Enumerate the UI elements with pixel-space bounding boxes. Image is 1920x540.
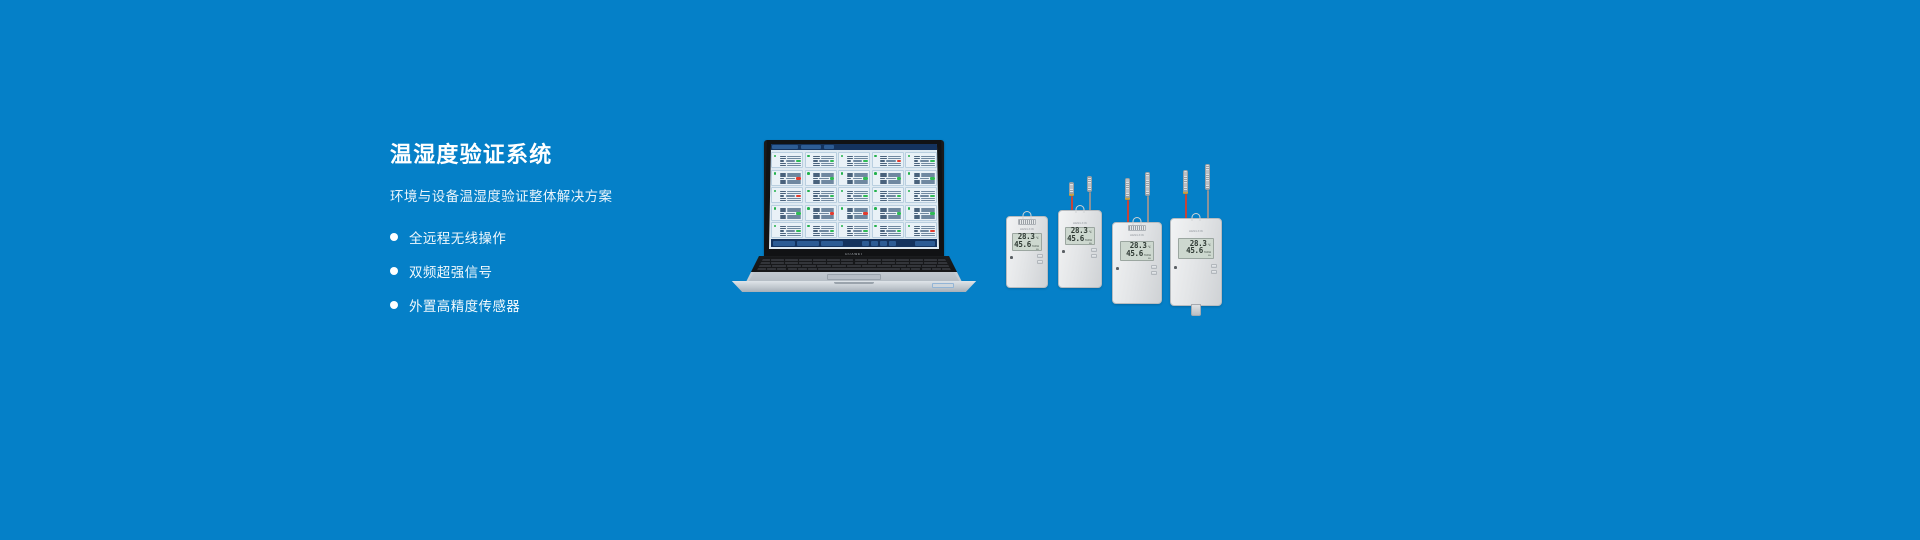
- device-button-group: [1211, 264, 1217, 274]
- sensor-ok-badge: [897, 177, 901, 179]
- hanging-hook-icon: [1133, 217, 1142, 225]
- sensor-field-key: [847, 195, 852, 196]
- sensor-field-key: [813, 213, 818, 214]
- sensor-field-key: [780, 182, 787, 183]
- keyboard-key[interactable]: [910, 262, 923, 264]
- sensor-status-dot-icon: [841, 155, 844, 158]
- keyboard-key[interactable]: [772, 265, 786, 267]
- hanging-hook-icon: [1076, 205, 1085, 213]
- keyboard-key[interactable]: [910, 259, 923, 261]
- sensor-alarm-badge: [796, 177, 800, 179]
- sensor-field-key: [914, 200, 921, 201]
- sensor-card[interactable]: [771, 187, 803, 203]
- sensor-field-key: [880, 165, 887, 166]
- sensor-field-key: [914, 230, 919, 231]
- humidity-unit: %RH: [1144, 253, 1151, 257]
- sensor-field-value: [853, 230, 863, 231]
- sensor-field-value: [888, 182, 901, 183]
- sensor-card-row: [874, 200, 901, 201]
- sensor-card[interactable]: [872, 205, 904, 221]
- sensor-card[interactable]: [838, 205, 870, 221]
- sensor-ok-badge: [830, 195, 834, 197]
- sensor-status-dot-icon: [908, 155, 911, 158]
- sensor-status-dot-icon: [807, 190, 810, 193]
- sensor-field-key: [847, 235, 854, 236]
- sensor-card[interactable]: [771, 205, 803, 221]
- sensor-alarm-badge: [830, 212, 834, 214]
- pagination-page-3[interactable]: [880, 241, 887, 246]
- probe-sensor-mesh-icon: [1183, 170, 1188, 192]
- lcd-display: 28.3 ℃ 45.6 %RH RH: [1178, 238, 1214, 259]
- sensor-card[interactable]: [872, 152, 904, 168]
- keyboard-key[interactable]: [924, 259, 937, 261]
- sensor-card-row: [807, 177, 834, 179]
- sensor-field-key: [914, 182, 921, 183]
- sensor-field-value: [888, 217, 901, 218]
- sensor-card-row: [774, 182, 801, 183]
- sensor-card-row: [874, 165, 901, 166]
- external-probe-secondary: [1082, 176, 1098, 212]
- menu-item-group-1[interactable]: [772, 145, 798, 149]
- temperature-unit: ℃: [1089, 230, 1092, 234]
- sensor-card-row: [841, 165, 868, 166]
- sensor-field-value: [819, 213, 829, 214]
- sensor-field-value: [886, 178, 896, 179]
- sensor-card-row: [908, 212, 935, 214]
- sensor-card-row: [874, 177, 901, 179]
- sensor-field-value: [821, 165, 834, 166]
- keyboard-key[interactable]: [787, 265, 801, 267]
- sensor-status-dot-icon: [774, 207, 777, 210]
- sensor-field-value: [886, 230, 896, 231]
- sensor-card[interactable]: [872, 222, 904, 238]
- lcd-humidity-row: 45.6 %RH: [1068, 235, 1092, 243]
- sensor-ok-badge: [830, 230, 834, 232]
- keyboard-key[interactable]: [868, 262, 881, 264]
- sensor-ok-badge: [930, 195, 934, 197]
- sensor-field-key: [914, 160, 919, 161]
- status-led-icon: [1116, 267, 1119, 270]
- list-item: 全远程无线操作: [390, 224, 720, 250]
- sensor-card-row: [807, 165, 834, 166]
- sensor-card-row: [841, 200, 868, 201]
- keyboard-key[interactable]: [813, 259, 826, 261]
- device-button-group: [1037, 254, 1043, 264]
- probe-sensor-mesh-icon: [1069, 182, 1074, 194]
- keyboard-key[interactable]: [813, 262, 826, 264]
- bottom-probe-connector: [1191, 304, 1201, 316]
- sensor-card-row: [807, 230, 834, 232]
- sensor-card-row: [908, 200, 935, 201]
- keyboard-key[interactable]: [896, 259, 909, 261]
- keyboard-key[interactable]: [896, 262, 909, 264]
- probe-sensor-mesh-icon: [1205, 164, 1210, 190]
- device-button-up[interactable]: [1211, 264, 1217, 268]
- sensor-field-value: [888, 165, 901, 166]
- sensor-card-row: [874, 160, 901, 162]
- sensor-card[interactable]: [805, 187, 837, 203]
- device-button-group: [1091, 248, 1097, 258]
- sensor-field-value: [821, 200, 834, 201]
- sensor-field-key: [780, 230, 785, 231]
- sensor-field-value: [920, 195, 930, 196]
- sensor-field-value: [787, 200, 800, 201]
- keyboard-key[interactable]: [911, 268, 920, 270]
- sensor-field-key: [813, 217, 820, 218]
- feature-list: 全远程无线操作 双频超强信号 外置高精度传感器: [390, 224, 720, 318]
- sensor-card-row: [807, 200, 834, 201]
- keyboard-key[interactable]: [777, 268, 786, 270]
- sensor-card[interactable]: [872, 187, 904, 203]
- sensor-card-row: [774, 200, 801, 201]
- laptop-screen: [769, 144, 939, 249]
- sensor-alarm-badge: [897, 160, 901, 162]
- sensor-field-value: [819, 178, 829, 179]
- keyboard-key[interactable]: [862, 265, 876, 267]
- sensor-field-key: [813, 195, 818, 196]
- external-probe-right: [1140, 172, 1156, 226]
- keyboard-key[interactable]: [841, 262, 854, 264]
- page-subtitle: 环境与设备温湿度验证整体解决方案: [390, 185, 720, 205]
- sensor-card[interactable]: [838, 187, 870, 203]
- sensor-card-row: [841, 182, 868, 183]
- sensor-field-key: [780, 235, 787, 236]
- sensor-field-value: [888, 200, 901, 201]
- sensor-field-key: [847, 178, 852, 179]
- sensor-field-key: [914, 235, 921, 236]
- sensor-card-row: [774, 195, 801, 197]
- sensor-card-row: [841, 195, 868, 197]
- page-title: 温湿度验证系统: [390, 142, 720, 168]
- sensor-field-key: [813, 235, 820, 236]
- sensor-status-dot-icon: [874, 207, 877, 210]
- laptop-keyboard[interactable]: [754, 257, 954, 272]
- sensor-card[interactable]: [805, 205, 837, 221]
- keyboard-key[interactable]: [808, 268, 817, 270]
- sensor-field-value: [921, 182, 934, 183]
- pagination-page-4[interactable]: [889, 241, 896, 246]
- sensor-ok-badge: [863, 160, 867, 162]
- sensor-card[interactable]: [872, 170, 904, 186]
- sensor-card-row: [807, 195, 834, 197]
- sensor-card-row: [841, 212, 868, 214]
- sensor-field-key: [880, 160, 885, 161]
- sensor-field-value: [854, 235, 867, 236]
- sensor-field-value: [920, 230, 930, 231]
- sensor-card-row: [807, 160, 834, 162]
- sensor-card[interactable]: [805, 170, 837, 186]
- keyboard-key[interactable]: [818, 268, 900, 270]
- sensor-field-value: [853, 213, 863, 214]
- sensor-card-row: [908, 177, 935, 179]
- humidity-unit: %RH: [1085, 238, 1092, 242]
- sensor-card[interactable]: [771, 152, 803, 168]
- sensor-alarm-badge: [796, 195, 800, 197]
- keyboard-key[interactable]: [922, 265, 936, 267]
- keyboard-key[interactable]: [901, 268, 910, 270]
- sensor-card-row: [908, 195, 935, 197]
- laptop-base: [724, 256, 984, 294]
- sensor-status-dot-icon: [908, 225, 911, 228]
- device-button-down[interactable]: [1211, 270, 1217, 274]
- keyboard-key[interactable]: [832, 265, 846, 267]
- sensor-vent-grille: [1018, 219, 1036, 225]
- humidity-unit: %RH: [1204, 250, 1211, 254]
- lcd-footer-label: RH: [1015, 249, 1039, 251]
- feature-label: 外置高精度传感器: [409, 295, 520, 315]
- list-item: 外置高精度传感器: [390, 292, 720, 318]
- app-menubar: [769, 144, 939, 150]
- sensor-status-dot-icon: [807, 172, 810, 175]
- keyboard-row: [757, 268, 951, 270]
- sensor-ok-badge: [930, 212, 934, 214]
- status-led-icon: [1010, 256, 1013, 259]
- sensor-ok-badge: [830, 177, 834, 179]
- laptop-spec-sticker: [932, 283, 954, 288]
- sensor-card[interactable]: [905, 187, 937, 203]
- feature-label: 双频超强信号: [409, 261, 492, 281]
- sensor-vent-grille: [1128, 225, 1146, 231]
- device-button-up[interactable]: [1151, 265, 1157, 269]
- keyboard-key[interactable]: [932, 268, 941, 270]
- data-logger-dual-probe-left[interactable]: HENGXIN 28.3 ℃ 45.6 %RH RH: [1112, 222, 1162, 304]
- humidity-value: 45.6: [1126, 250, 1143, 258]
- device-button-down[interactable]: [1151, 271, 1157, 275]
- sensor-status-dot-icon: [841, 207, 844, 210]
- keyboard-key[interactable]: [882, 259, 895, 261]
- sensor-status-dot-icon: [807, 225, 810, 228]
- sensor-card[interactable]: [905, 152, 937, 168]
- sensor-status-dot-icon: [807, 155, 810, 158]
- toolbar-button-3[interactable]: [821, 241, 843, 246]
- data-logger-group: HENGXIN 28.3 ℃ 45.6 %RH RH: [1000, 190, 1240, 320]
- sensor-field-value: [921, 235, 934, 236]
- device-button-up[interactable]: [1037, 254, 1043, 258]
- keyboard-key[interactable]: [924, 262, 937, 264]
- sensor-field-key: [847, 213, 852, 214]
- sensor-field-value: [920, 178, 930, 179]
- laptop-trackpad[interactable]: [827, 274, 881, 280]
- sensor-card[interactable]: [771, 170, 803, 186]
- marketing-copy: 温湿度验证系统 环境与设备温湿度验证整体解决方案 全远程无线操作 双频超强信号 …: [390, 142, 720, 318]
- sensor-card[interactable]: [905, 222, 937, 238]
- sensor-card[interactable]: [805, 222, 837, 238]
- lcd-display: 28.3 ℃ 45.6 %RH RH: [1120, 241, 1154, 261]
- sensor-field-value: [886, 213, 896, 214]
- data-logger-probe-red[interactable]: HENGXIN 28.3 ℃ 45.6 %RH RH: [1058, 210, 1102, 288]
- lcd-humidity-row: 45.6 %RH: [1015, 241, 1039, 249]
- sensor-field-key: [880, 178, 885, 179]
- sensor-status-dot-icon: [874, 155, 877, 158]
- device-button-up[interactable]: [1091, 248, 1097, 252]
- sensor-status-dot-icon: [841, 190, 844, 193]
- sensor-card-row: [774, 177, 801, 179]
- sensor-card-row: [908, 182, 935, 183]
- sensor-card[interactable]: [905, 170, 937, 186]
- keyboard-key[interactable]: [942, 268, 951, 270]
- sensor-field-value: [920, 213, 930, 214]
- sensor-card-row: [874, 217, 901, 218]
- sensor-field-value: [854, 217, 867, 218]
- sensor-field-key: [847, 165, 854, 166]
- sensor-status-dot-icon: [774, 190, 777, 193]
- sensor-status-dot-icon: [807, 207, 810, 210]
- sensor-field-key: [847, 230, 852, 231]
- sensor-ok-badge: [796, 212, 800, 214]
- data-logger-dual-probe-right[interactable]: HENGXIN 28.3 ℃ 45.6 %RH RH: [1170, 218, 1222, 306]
- keyboard-key[interactable]: [799, 259, 812, 261]
- toolbar-button-exit[interactable]: [915, 241, 935, 246]
- sensor-field-key: [847, 182, 854, 183]
- sensor-field-value: [821, 235, 834, 236]
- sensor-field-value: [921, 165, 934, 166]
- hanging-hook-icon: [1192, 213, 1201, 221]
- keyboard-key[interactable]: [798, 268, 807, 270]
- sensor-field-value: [920, 160, 930, 161]
- sensor-ok-badge: [863, 230, 867, 232]
- app-bottom-toolbar: [771, 239, 937, 247]
- sensor-status-dot-icon: [908, 207, 911, 210]
- sensor-card[interactable]: [838, 170, 870, 186]
- lcd-humidity-row: 45.6 %RH: [1181, 247, 1211, 255]
- keyboard-key[interactable]: [771, 262, 784, 264]
- sensor-field-key: [780, 200, 787, 201]
- keyboard-key[interactable]: [799, 262, 812, 264]
- keyboard-row: [757, 259, 951, 261]
- pagination-page-1[interactable]: [862, 241, 869, 246]
- toolbar-button-2[interactable]: [797, 241, 819, 246]
- data-logger-compact[interactable]: HENGXIN 28.3 ℃ 45.6 %RH RH: [1006, 216, 1048, 288]
- sensor-field-value: [787, 165, 800, 166]
- sensor-status-dot-icon: [874, 225, 877, 228]
- sensor-field-value: [786, 178, 796, 179]
- sensor-card[interactable]: [771, 222, 803, 238]
- device-button-down[interactable]: [1091, 254, 1097, 258]
- sensor-field-value: [787, 182, 800, 183]
- device-brand-label: HENGXIN: [1189, 230, 1203, 233]
- laptop-product-image: HUAWEI: [718, 140, 990, 300]
- keyboard-key[interactable]: [827, 262, 840, 264]
- keyboard-key[interactable]: [892, 265, 906, 267]
- keyboard-key[interactable]: [757, 268, 766, 270]
- sensor-card[interactable]: [838, 152, 870, 168]
- sensor-card-row: [774, 230, 801, 232]
- sensor-field-key: [780, 178, 785, 179]
- keyboard-key[interactable]: [785, 262, 798, 264]
- sensor-field-value: [886, 195, 896, 196]
- sensor-field-value: [853, 178, 863, 179]
- sensor-card-grid: [771, 152, 937, 238]
- sensor-card-row: [841, 177, 868, 179]
- laptop-open-notch[interactable]: [834, 282, 874, 285]
- sensor-alarm-badge: [863, 212, 867, 214]
- menu-item-group-2[interactable]: [801, 145, 821, 149]
- lcd-footer-label: RH: [1123, 258, 1151, 260]
- sensor-field-value: [787, 217, 800, 218]
- sensor-field-key: [780, 213, 785, 214]
- keyboard-key[interactable]: [817, 265, 831, 267]
- sensor-card-row: [807, 235, 834, 236]
- keyboard-key[interactable]: [802, 265, 816, 267]
- device-button-group: [1151, 265, 1157, 275]
- sensor-ok-badge: [897, 230, 901, 232]
- sensor-card-row: [807, 182, 834, 183]
- sensor-card-row: [807, 212, 834, 214]
- toolbar-button-1[interactable]: [773, 241, 795, 246]
- keyboard-key[interactable]: [827, 259, 840, 261]
- keyboard-key[interactable]: [767, 268, 776, 270]
- device-button-down[interactable]: [1037, 260, 1043, 264]
- laptop-lid: HUAWEI: [764, 140, 944, 258]
- lcd-display: 28.3 ℃ 45.6 %RH RH: [1012, 233, 1042, 251]
- sensor-ok-badge: [897, 212, 901, 214]
- sensor-field-value: [786, 160, 796, 161]
- sensor-field-key: [813, 200, 820, 201]
- sensor-card-row: [841, 230, 868, 232]
- sensor-card-row: [841, 160, 868, 162]
- sensor-card-row: [908, 235, 935, 236]
- keyboard-key[interactable]: [855, 259, 868, 261]
- humidity-unit: %RH: [1032, 244, 1039, 248]
- menu-item-group-3[interactable]: [824, 145, 834, 149]
- bullet-dot-icon: [390, 267, 398, 275]
- temperature-unit: ℃: [1208, 243, 1211, 247]
- keyboard-key[interactable]: [868, 259, 881, 261]
- keyboard-key[interactable]: [788, 268, 797, 270]
- keyboard-key[interactable]: [771, 259, 784, 261]
- sensor-card-row: [908, 160, 935, 162]
- sensor-field-value: [854, 182, 867, 183]
- sensor-field-value: [921, 200, 934, 201]
- sensor-card[interactable]: [805, 152, 837, 168]
- keyboard-key[interactable]: [877, 265, 891, 267]
- sensor-ok-badge: [796, 230, 800, 232]
- sensor-field-value: [854, 200, 867, 201]
- sensor-ok-badge: [930, 177, 934, 179]
- keyboard-key[interactable]: [922, 268, 931, 270]
- device-brand-label: HENGXIN: [1073, 222, 1087, 225]
- keyboard-key[interactable]: [785, 259, 798, 261]
- sensor-field-key: [780, 165, 787, 166]
- sensor-card-row: [774, 212, 801, 214]
- sensor-ok-badge: [863, 177, 867, 179]
- keyboard-key[interactable]: [841, 259, 854, 261]
- keyboard-key[interactable]: [855, 262, 868, 264]
- sensor-field-value: [819, 230, 829, 231]
- sensor-field-key: [880, 213, 885, 214]
- sensor-field-key: [780, 217, 787, 218]
- sensor-card-row: [841, 235, 868, 236]
- device-brand-label: HENGXIN: [1020, 228, 1034, 231]
- sensor-status-dot-icon: [841, 172, 844, 175]
- pagination-page-2[interactable]: [871, 241, 878, 246]
- sensor-status-dot-icon: [874, 172, 877, 175]
- sensor-field-key: [880, 195, 885, 196]
- sensor-field-value: [853, 195, 863, 196]
- sensor-card[interactable]: [905, 205, 937, 221]
- humidity-value: 45.6: [1067, 235, 1084, 243]
- sensor-field-value: [854, 165, 867, 166]
- keyboard-key[interactable]: [907, 265, 921, 267]
- bullet-dot-icon: [390, 301, 398, 309]
- sensor-field-key: [780, 195, 785, 196]
- keyboard-key[interactable]: [882, 262, 895, 264]
- sensor-status-dot-icon: [908, 190, 911, 193]
- keyboard-key[interactable]: [847, 265, 861, 267]
- sensor-ok-badge: [930, 160, 934, 162]
- sensor-card[interactable]: [838, 222, 870, 238]
- sensor-field-value: [921, 217, 934, 218]
